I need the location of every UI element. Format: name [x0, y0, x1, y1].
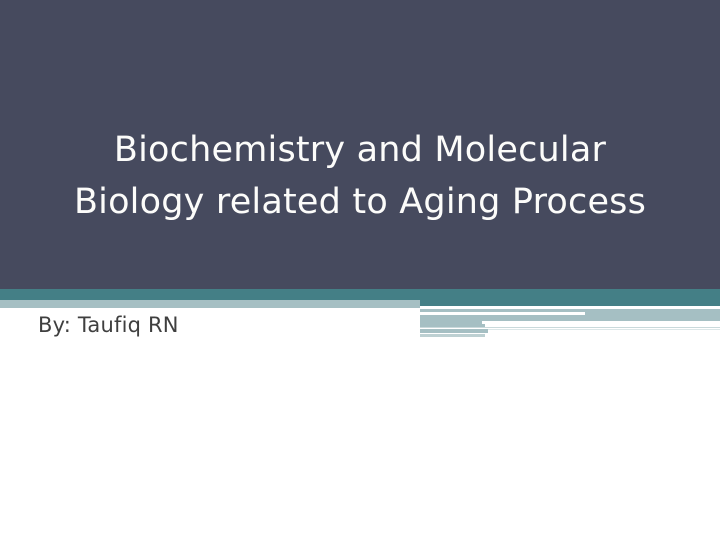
- decorative-stripe: [420, 289, 720, 306]
- decorative-stripe: [482, 321, 720, 324]
- decorative-stripes: [420, 289, 720, 341]
- slide-subtitle: By: Taufiq RN: [38, 311, 179, 339]
- title-panel: Biochemistry and Molecular Biology relat…: [0, 0, 720, 289]
- decorative-stripe: [420, 334, 485, 337]
- presentation-slide: Biochemistry and Molecular Biology relat…: [0, 0, 720, 540]
- decorative-stripe: [420, 329, 488, 333]
- decorative-stripe: [488, 329, 720, 330]
- slide-title: Biochemistry and Molecular Biology relat…: [36, 124, 684, 228]
- decorative-stripe: [420, 327, 720, 328]
